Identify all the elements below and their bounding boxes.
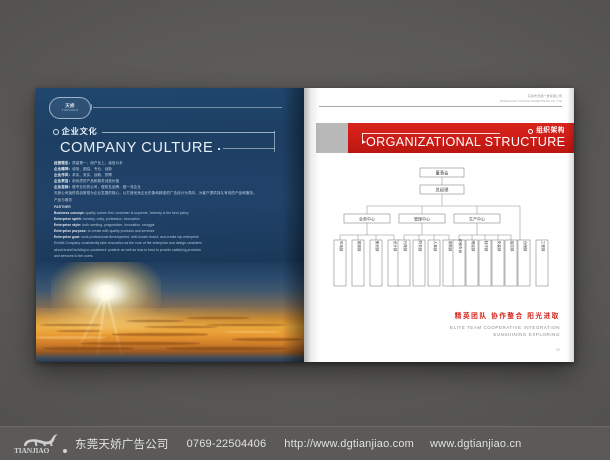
right-page-top-rule	[319, 106, 562, 107]
org-node-label: 人事部	[433, 241, 438, 252]
en-line-label: Enterprise spirit:	[54, 217, 82, 221]
org-node-label: 品控部	[510, 241, 515, 252]
en-line-text: truth-seeking, pragmatism, innovation, s…	[81, 223, 154, 227]
brand-badge-cn: 天娇	[65, 104, 75, 108]
screenshot-stage: 天娇 TIANJIAO 企业文化 COMPANY CULTURE	[0, 0, 610, 460]
org-node-label: 业务中心	[359, 215, 375, 221]
cloud	[36, 336, 106, 339]
sun-core	[96, 285, 116, 300]
cn-line-text: 做专业化的公司，做知名品牌，做一流企业	[72, 185, 141, 189]
left-page: 天娇 TIANJIAO 企业文化 COMPANY CULTURE	[36, 88, 304, 362]
left-title-rule	[102, 132, 275, 133]
footer-url-primary[interactable]: http://www.dgtianjiao.com	[284, 438, 414, 450]
left-title-cn-row: 企业文化	[53, 128, 275, 136]
org-node-label: 工程部	[541, 241, 546, 252]
en-line-label: Enterprise style:	[54, 223, 81, 227]
brand-badge-en: TIANJIAO	[62, 109, 79, 112]
org-node-label: 制作部	[484, 241, 489, 252]
cloud	[166, 347, 286, 350]
org-node-label: 设计部	[393, 241, 398, 252]
cloud	[112, 333, 208, 336]
banner-title-cn: 组织架构	[536, 128, 565, 135]
left-title-rule2	[223, 148, 275, 149]
cn-line-text: 质量第一，用户至上，诚信为本	[72, 161, 123, 165]
circle-bullet-icon	[53, 129, 59, 135]
banner-cn-row: 组织架构	[528, 128, 565, 135]
banner-title-en: ORGANIZATIONAL STRUCTURE	[366, 136, 565, 149]
top-note-line2: DONGGUAN TIANJIAO ADVERTISING CO.,LTD	[500, 99, 562, 104]
circle-bullet-icon	[528, 129, 533, 134]
left-title-cn: 企业文化	[62, 128, 98, 136]
en-line-text: honesty, unity, profession, innovation	[82, 217, 140, 221]
logo-wordmark: TIANJIAO	[14, 446, 49, 455]
tagline-cn: 精英团队 协作整合 阳光进取	[450, 314, 560, 321]
logo-dot-icon	[63, 449, 67, 453]
org-node-label: 印刷车间	[458, 239, 463, 254]
left-cn-body: 经营理念：质量第一，用户至上，诚信为本 企业精神：诚信、团结、专业、创新 企业作…	[54, 160, 264, 203]
cn-line-label: 企业精神：	[54, 167, 72, 171]
org-node-label: 生产中心	[469, 215, 485, 221]
org-node-label: 总经理	[436, 186, 450, 192]
org-node-label: 策划部	[375, 241, 380, 252]
org-node-label: 行政部	[403, 241, 408, 252]
right-page: 东莞市天娇广告有限公司 DONGGUAN TIANJIAO ADVERTISIN…	[304, 88, 574, 362]
org-node-label: 仓储部	[523, 241, 528, 252]
cn-line-label: 企业目标：	[54, 185, 72, 189]
en-line-label: Enterprise purpose:	[54, 229, 87, 233]
company-logo[interactable]: TIANJIAO	[14, 432, 70, 456]
footer-bar: TIANJIAO 东莞天娇广告公司 0769-22504406 http://w…	[0, 426, 610, 460]
cn-paragraph-line: 天娇公司始终将创新视为企业发展的核心，以打造优良企业形象和精准的广告设计为导向，…	[54, 190, 264, 196]
en-line-text: work professional development, well-know…	[80, 235, 198, 239]
org-node-label: 财务部	[418, 241, 423, 252]
cn-line-text: 诚信、团结、专业、创新	[72, 167, 112, 171]
sunset-photo	[36, 262, 304, 362]
right-page-top-note: 东莞市天娇广告有限公司 DONGGUAN TIANJIAO ADVERTISIN…	[500, 94, 562, 104]
en-line-text: quality comes first, customer is supreme…	[85, 211, 189, 215]
org-node-label: 管理中心	[414, 215, 430, 221]
cn-line-text: 求实、务实、创新、拼搏	[72, 173, 112, 177]
org-node-label: 客服部	[357, 241, 362, 252]
footer-url-secondary[interactable]: www.dgtianjiao.cn	[430, 438, 521, 450]
page-number: 08	[556, 348, 560, 352]
org-node-label: 市场部	[339, 241, 344, 252]
org-node-label: 安装部	[497, 241, 502, 252]
brand-rule	[93, 107, 282, 108]
banner-horizontal-rule	[362, 133, 500, 134]
cn-line-label: 企业宗旨：	[54, 179, 72, 183]
left-title-block: 企业文化 COMPANY CULTURE	[53, 128, 275, 156]
cn-paragraph-line: 产品与服务	[54, 197, 264, 203]
banner-red-block: 组织架构 ORGANIZATIONAL STRUCTURE	[348, 123, 574, 153]
en-line-text: to create with quality products and serv…	[87, 229, 155, 233]
right-page-tagline: 精英团队 协作整合 阳光进取 ELITE TEAM COOPERATIVE IN…	[450, 314, 560, 338]
square-bullet-icon	[218, 148, 220, 150]
tagline-en2: SUNSHINING EXPLORING	[450, 331, 560, 338]
brochure-spread: 天娇 TIANJIAO 企业文化 COMPANY CULTURE	[36, 88, 574, 362]
footer-company-name: 东莞天娇广告公司	[75, 436, 169, 452]
org-node-label: 喷绘部	[471, 241, 476, 252]
tagline-en1: ELITE TEAM COOPERATIVE INTEGRATION	[450, 324, 560, 331]
cloud	[80, 342, 200, 345]
en-line: and services to the users.	[54, 253, 266, 259]
org-node-label: 采购部	[448, 241, 453, 252]
left-en-body: PARTNER Business concept: quality comes …	[54, 204, 266, 259]
banner-gray-block	[316, 123, 348, 153]
section-banner: 组织架构 ORGANIZATIONAL STRUCTURE	[316, 123, 574, 153]
left-title-en: COMPANY CULTURE	[60, 141, 213, 156]
left-title-bracket	[274, 131, 275, 152]
footer-phone[interactable]: 0769-22504406	[187, 438, 267, 450]
cn-line-label: 经营理念：	[54, 161, 72, 165]
left-title-en-row: COMPANY CULTURE	[60, 141, 275, 156]
org-chart: 董事会 总经理 业务中心 管理中心 生产中心	[324, 164, 560, 300]
cn-line-label: 企业作风：	[54, 173, 72, 177]
cn-line-text: 用优质的产品和服务创造价值	[72, 179, 119, 183]
cloud	[44, 347, 134, 350]
org-node-label: 董事会	[436, 169, 450, 176]
org-chart-svg: 董事会 总经理 业务中心 管理中心 生产中心	[324, 164, 560, 300]
en-line-label: Enterprise goal:	[54, 235, 80, 239]
en-line-label: Business concept:	[54, 211, 85, 215]
brand-rule-tick	[91, 104, 92, 110]
brand-badge: 天娇 TIANJIAO	[49, 97, 91, 119]
